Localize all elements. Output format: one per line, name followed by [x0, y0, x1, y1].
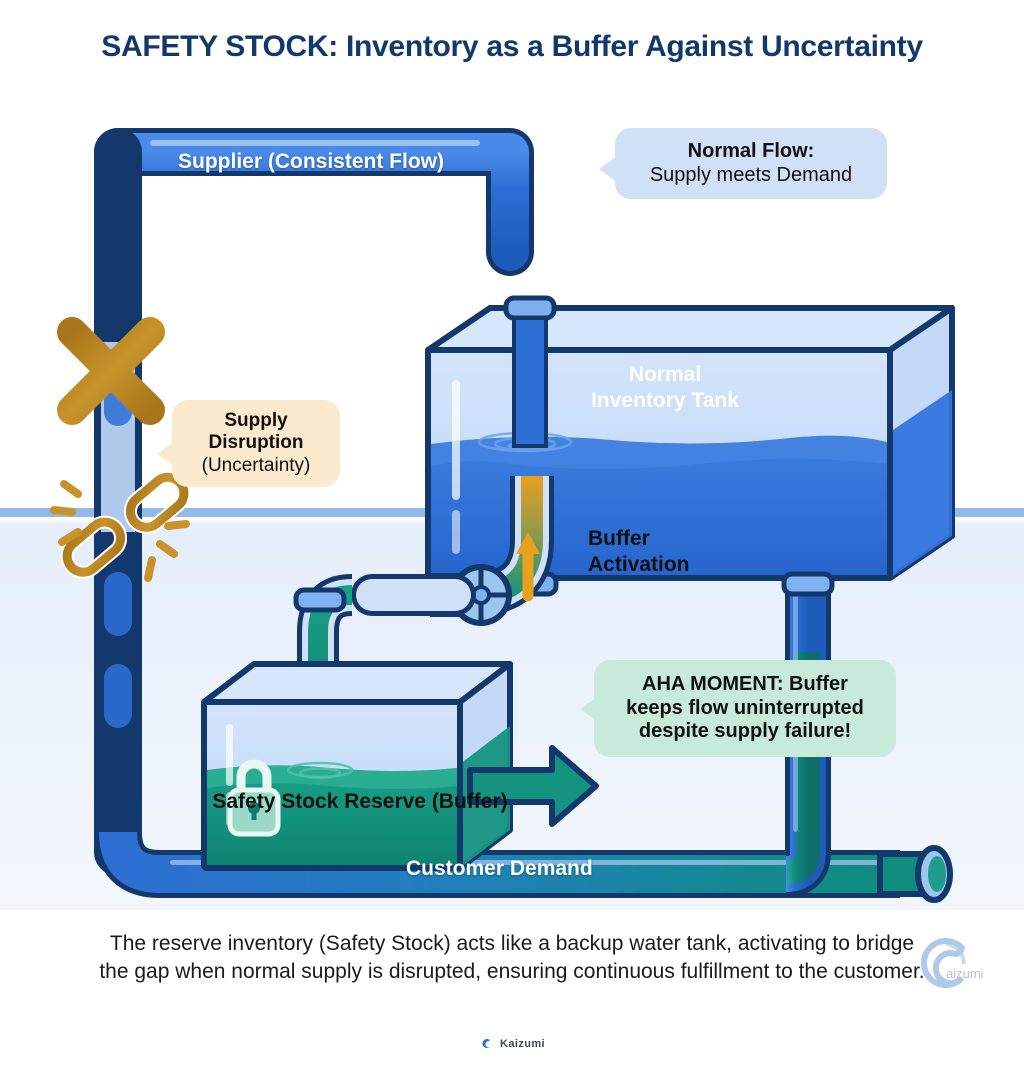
callout-normal-flow-line1: Normal Flow: [633, 140, 869, 164]
tank-label-line2: Inventory Tank [591, 389, 739, 412]
callout-normal-flow: Normal Flow: Supply meets Demand [615, 128, 887, 199]
callout-disruption-line1: Supply [182, 410, 330, 432]
outlet-nozzle [880, 848, 950, 900]
footer-logo: Kaizumi [0, 1036, 1024, 1051]
diagram-svg [0, 92, 1024, 910]
tank-label-line1: Normal [629, 363, 701, 386]
buffer-label-line1: Buffer [588, 527, 650, 550]
callout-disruption-line2: Disruption [182, 432, 330, 454]
callout-tail [157, 442, 174, 466]
callout-tail [599, 156, 617, 182]
callout-aha-moment: AHA MOMENT: Buffer keeps flow uninterrup… [594, 660, 896, 757]
label-supplier: Supplier (Consistent Flow) [178, 150, 444, 174]
label-normal-inventory-tank: Normal Inventory Tank [540, 362, 790, 413]
caption-line2: the gap when normal supply is disrupted,… [40, 958, 984, 986]
caption: The reserve inventory (Safety Stock) act… [40, 930, 984, 987]
page-title: SAFETY STOCK: Inventory as a Buffer Agai… [0, 30, 1024, 64]
buffer-label-line2: Activation [588, 553, 690, 576]
diagram-stage [0, 92, 1024, 910]
callout-tail [580, 698, 596, 720]
callout-normal-flow-line2: Supply meets Demand [633, 164, 869, 188]
label-buffer-activation: Buffer Activation [588, 526, 758, 577]
label-safety-stock-reserve: Safety Stock Reserve (Buffer) [190, 790, 530, 814]
callout-aha-line1: AHA MOMENT: Buffer [608, 673, 882, 697]
callout-disruption-line3: (Uncertainty) [182, 455, 330, 477]
callout-supply-disruption: Supply Disruption (Uncertainty) [172, 400, 340, 487]
infographic-root: SAFETY STOCK: Inventory as a Buffer Agai… [0, 0, 1024, 1074]
callout-aha-line2: keeps flow uninterrupted [608, 697, 882, 721]
caption-line1: The reserve inventory (Safety Stock) act… [40, 930, 984, 958]
kaizumi-swirl-icon [479, 1036, 494, 1051]
label-customer-demand: Customer Demand [406, 857, 593, 881]
callout-aha-line3: despite supply failure! [608, 720, 882, 744]
footer-brand: Kaizumi [500, 1038, 545, 1050]
